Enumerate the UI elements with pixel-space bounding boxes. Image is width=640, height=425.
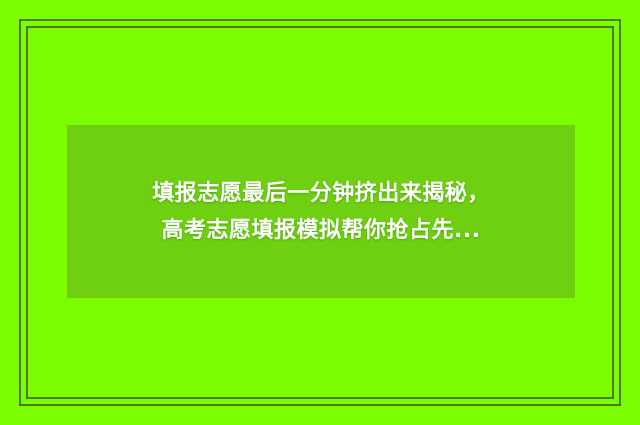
caption-panel: 填报志愿最后一分钟挤出来揭秘， 高考志愿填报模拟帮你抢占先... [67,125,575,298]
caption-line-1: 填报志愿最后一分钟挤出来揭秘， [152,175,490,212]
caption-line-2: 高考志愿填报模拟帮你抢占先... [161,212,480,249]
banner-root: 填报志愿最后一分钟挤出来揭秘， 高考志愿填报模拟帮你抢占先... [0,0,640,425]
